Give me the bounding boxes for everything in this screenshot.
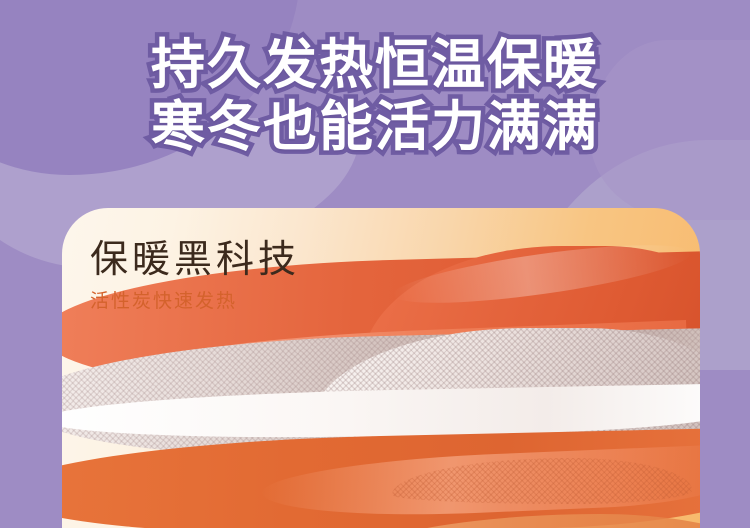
lower-orange-layer-highlight (261, 444, 700, 522)
headline-line-2: 寒冬也能活力满满 (0, 96, 750, 158)
lower-orange-layer-texture (392, 458, 692, 504)
salmon-sliver-layer (166, 320, 687, 384)
card-subheading: 活性炭快速发热 (90, 288, 300, 314)
promo-banner: 持久发热恒温保暖 寒冬也能活力满满 保暖黑科技 活性炭快速发热 绵柔无纺布 内层… (0, 0, 750, 528)
card-text-block: 保暖黑科技 活性炭快速发热 (90, 236, 300, 314)
bottom-tail-layer (312, 514, 700, 528)
mesh-fabric-layer-edge (62, 383, 700, 442)
mesh-fabric-layer (62, 327, 700, 465)
mesh-fabric-layer-hump (312, 328, 700, 448)
headline-block: 持久发热恒温保暖 寒冬也能活力满满 (0, 34, 750, 158)
headline-line-1: 持久发热恒温保暖 (0, 34, 750, 96)
card-heading: 保暖黑科技 (90, 236, 300, 282)
feature-card: 保暖黑科技 活性炭快速发热 绵柔无纺布 内层隔热片 (62, 208, 700, 528)
top-red-layer-highlight (391, 233, 694, 314)
top-red-layer-hump (362, 246, 700, 396)
lower-orange-layer (62, 427, 700, 528)
